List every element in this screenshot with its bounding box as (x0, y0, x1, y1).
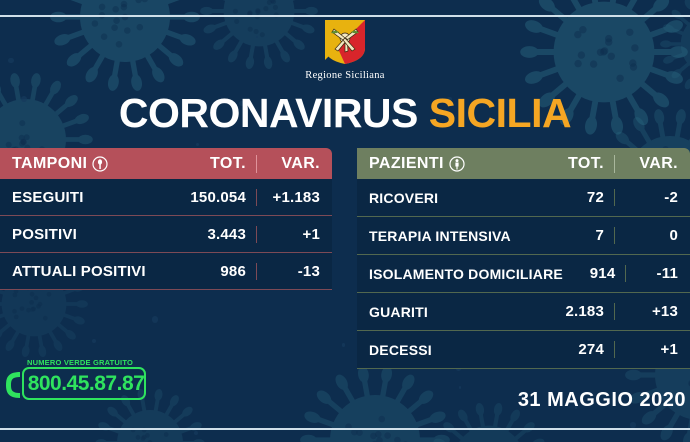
helpline-badge[interactable]: NUMERO VERDE GRATUITO 800.45.87.87 (4, 358, 150, 410)
coronavirus-sicilia-infographic: Regione Siciliana CORONAVIRUS SICILIA TA… (0, 0, 690, 442)
row-total: 3.443 (182, 226, 256, 243)
table-row: ATTUALI POSITIVI986-13 (0, 253, 332, 290)
row-label: POSITIVI (0, 226, 182, 243)
divider-top (0, 15, 690, 17)
table-pazienti: PAZIENTI TOT. VAR. RICOVERI72-2TERAPIA I… (357, 148, 690, 369)
table-pazienti-col-variation: VAR. (614, 155, 690, 173)
speck-decoration (194, 431, 198, 435)
speck-decoration (342, 343, 346, 347)
row-variation: -2 (614, 189, 690, 206)
table-tamponi-body: ESEGUITI150.054+1.183POSITIVI3.443+1ATTU… (0, 179, 332, 290)
row-total: 72 (540, 189, 614, 206)
row-label: ISOLAMENTO DOMICILIARE (357, 266, 563, 282)
row-label: RICOVERI (357, 190, 540, 206)
table-tamponi-header-label: TAMPONI (0, 155, 182, 173)
row-total: 274 (540, 341, 614, 358)
table-row: TERAPIA INTENSIVA70 (357, 217, 690, 255)
row-variation: -13 (256, 263, 332, 280)
regional-crest-block: Regione Siciliana (0, 18, 690, 81)
row-variation: +13 (614, 303, 690, 320)
row-variation: +1.183 (256, 189, 332, 206)
row-total: 986 (182, 263, 256, 280)
row-total: 914 (563, 265, 625, 282)
virus-particle-decoration (300, 365, 450, 442)
table-row: POSITIVI3.443+1 (0, 216, 332, 253)
table-pazienti-col-total: TOT. (540, 155, 614, 173)
patient-person-icon (449, 156, 465, 172)
row-variation: -11 (625, 265, 690, 282)
row-label: GUARITI (357, 304, 540, 320)
table-tamponi-title: TAMPONI (12, 155, 87, 173)
report-date: 31 MAGGIO 2020 (518, 389, 686, 412)
table-tamponi-col-variation: VAR. (256, 155, 332, 173)
table-pazienti-body: RICOVERI72-2TERAPIA INTENSIVA70ISOLAMENT… (357, 179, 690, 369)
page-title-highlight: SICILIA (429, 90, 571, 136)
swab-test-icon (92, 156, 108, 172)
row-variation: 0 (614, 227, 690, 244)
crest-caption: Regione Siciliana (0, 70, 690, 81)
page-title: CORONAVIRUS SICILIA (0, 93, 690, 134)
table-tamponi-header: TAMPONI TOT. VAR. (0, 148, 332, 179)
row-label: DECESSI (357, 342, 540, 358)
telephone-handset-icon (4, 370, 24, 400)
table-row: ESEGUITI150.054+1.183 (0, 179, 332, 216)
divider-bottom (0, 428, 690, 430)
speck-decoration (196, 143, 199, 146)
speck-decoration (152, 316, 159, 323)
table-pazienti-header: PAZIENTI TOT. VAR. (357, 148, 690, 179)
helpline-label: NUMERO VERDE GRATUITO (27, 358, 133, 367)
speck-decoration (630, 422, 635, 427)
table-tamponi-col-total: TOT. (182, 155, 256, 173)
row-label: ATTUALI POSITIVI (0, 263, 182, 280)
row-label: TERAPIA INTENSIVA (357, 228, 540, 244)
table-row: RICOVERI72-2 (357, 179, 690, 217)
sicily-trinacria-crest-icon (323, 18, 367, 66)
table-tamponi: TAMPONI TOT. VAR. ESEGUITI150.054+1.183P… (0, 148, 332, 290)
row-total: 150.054 (182, 189, 256, 206)
speck-decoration (92, 339, 96, 343)
table-pazienti-header-label: PAZIENTI (357, 155, 540, 173)
helpline-number[interactable]: 800.45.87.87 (26, 369, 146, 398)
table-row: GUARITI2.183+13 (357, 293, 690, 331)
row-variation: +1 (614, 341, 690, 358)
table-pazienti-title: PAZIENTI (369, 155, 444, 173)
page-title-primary: CORONAVIRUS (119, 90, 418, 136)
row-label: ESEGUITI (0, 189, 182, 206)
table-row: ISOLAMENTO DOMICILIARE914-11 (357, 255, 690, 293)
row-total: 2.183 (540, 303, 614, 320)
speck-decoration (459, 386, 462, 389)
table-row: DECESSI274+1 (357, 331, 690, 369)
row-total: 7 (540, 227, 614, 244)
row-variation: +1 (256, 226, 332, 243)
